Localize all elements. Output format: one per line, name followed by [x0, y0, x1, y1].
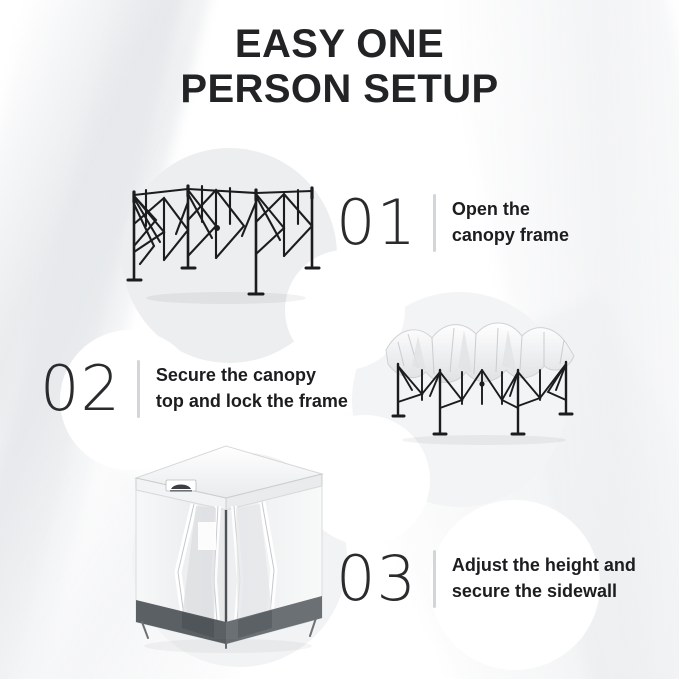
- frame-slider-knob: [479, 381, 484, 386]
- step-1: 01 Open the canopy frame: [336, 192, 569, 254]
- step-2-divider: [137, 360, 140, 418]
- page-title-line-1: EASY ONE: [0, 22, 679, 67]
- canopy-frame-illustration: [116, 168, 334, 308]
- step-2-number: 02: [40, 358, 121, 420]
- step-1-divider: [433, 194, 436, 252]
- step-3-line-1: Adjust the height and: [452, 553, 636, 579]
- brand-logo-underline: [170, 490, 192, 492]
- canopy-top-illustration: [378, 308, 590, 448]
- step-1-description: Open the canopy frame: [452, 197, 569, 248]
- step-3-line-2: secure the sidewall: [452, 579, 636, 605]
- infographic-canvas: EASY ONE PERSON SETUP: [0, 0, 679, 679]
- step-2-line-1: Secure the canopy: [156, 363, 348, 389]
- step-1-number: 01: [336, 192, 417, 254]
- step-3-number: 03: [336, 548, 417, 610]
- image-canopy-frame-open: [116, 168, 334, 308]
- step-2: 02 Secure the canopy top and lock the fr…: [40, 358, 348, 420]
- step-2-line-2: top and lock the frame: [156, 389, 348, 415]
- page-title-line-2: PERSON SETUP: [0, 67, 679, 112]
- page-title: EASY ONE PERSON SETUP: [0, 22, 679, 112]
- frame-slider-knob: [214, 225, 220, 231]
- step-2-description: Secure the canopy top and lock the frame: [156, 363, 348, 414]
- mesh-window: [198, 522, 216, 550]
- canopy-sidewall-illustration: [122, 440, 334, 655]
- step-1-line-1: Open the: [452, 197, 569, 223]
- step-3-divider: [433, 550, 436, 608]
- image-canopy-with-sidewalls: [122, 440, 334, 655]
- step-1-line-2: canopy frame: [452, 223, 569, 249]
- step-3: 03 Adjust the height and secure the side…: [336, 548, 636, 610]
- image-canopy-top-secured: [378, 308, 590, 448]
- step-3-description: Adjust the height and secure the sidewal…: [452, 553, 636, 604]
